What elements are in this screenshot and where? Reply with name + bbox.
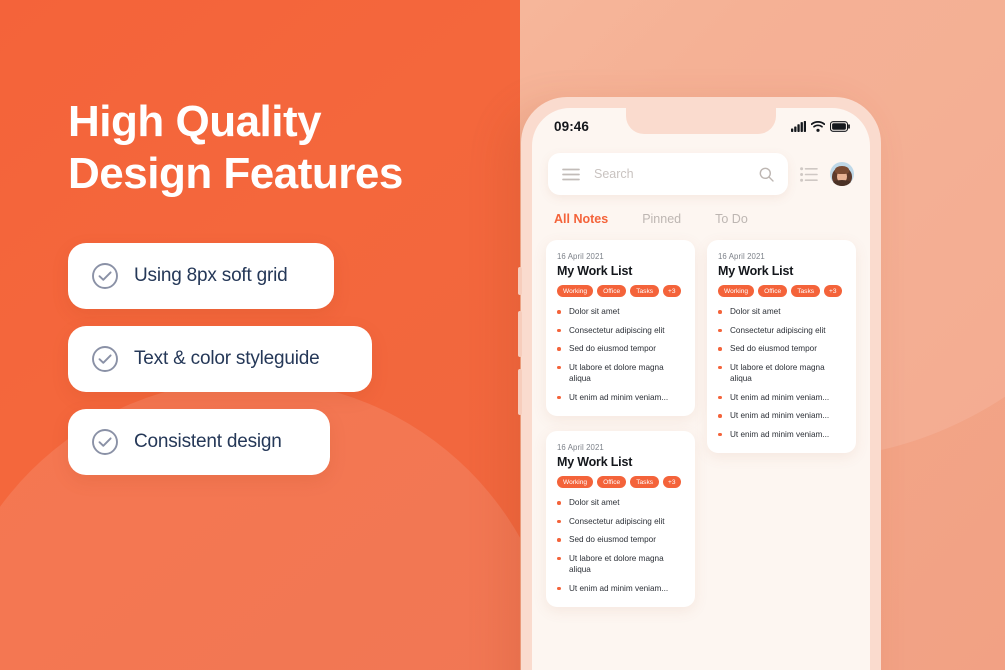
note-tag[interactable]: Working xyxy=(718,285,754,297)
search-icon[interactable] xyxy=(759,167,774,182)
note-tag[interactable]: Tasks xyxy=(630,476,659,488)
note-tag-overflow[interactable]: +3 xyxy=(663,476,681,488)
check-circle-icon xyxy=(90,427,120,457)
note-tag[interactable]: Office xyxy=(597,476,626,488)
notes-column-right: 16 April 2021 My Work List Working Offic… xyxy=(707,240,856,453)
page-title: High Quality Design Features xyxy=(68,96,403,200)
list-item: Ut labore et dolore magna aliqua xyxy=(718,362,845,385)
tab-pinned[interactable]: Pinned xyxy=(642,212,681,226)
feature-label: Text & color styleguide xyxy=(134,348,320,370)
list-item: Consectetur adipiscing elit xyxy=(557,516,684,528)
feature-list: Using 8px soft grid Text & color stylegu… xyxy=(68,243,372,492)
status-icon-group xyxy=(791,121,850,132)
note-tag-row: Working Office Tasks +3 xyxy=(557,285,684,297)
check-circle-icon xyxy=(90,261,120,291)
avatar[interactable] xyxy=(830,162,854,186)
feature-card-1[interactable]: Using 8px soft grid xyxy=(68,243,334,309)
note-tag[interactable]: Office xyxy=(758,285,787,297)
feature-label: Consistent design xyxy=(134,431,282,453)
note-date: 16 April 2021 xyxy=(718,252,845,261)
notes-grid: 16 April 2021 My Work List Working Offic… xyxy=(532,226,870,607)
note-bullet-list: Dolor sit amet Consectetur adipiscing el… xyxy=(718,306,845,440)
avatar-hair-front xyxy=(835,166,849,174)
feature-label: Using 8px soft grid xyxy=(134,265,288,287)
note-tag-row: Working Office Tasks +3 xyxy=(718,285,845,297)
list-item: Sed do eiusmod tempor xyxy=(557,534,684,546)
list-item: Ut enim ad minim veniam... xyxy=(557,392,684,404)
note-tag[interactable]: Working xyxy=(557,285,593,297)
note-date: 16 April 2021 xyxy=(557,443,684,452)
list-item: Sed do eiusmod tempor xyxy=(718,343,845,355)
tab-to-do[interactable]: To Do xyxy=(715,212,748,226)
note-tag-overflow[interactable]: +3 xyxy=(824,285,842,297)
feature-card-2[interactable]: Text & color styleguide xyxy=(68,326,372,392)
check-circle-icon xyxy=(90,344,120,374)
note-bullet-list: Dolor sit amet Consectetur adipiscing el… xyxy=(557,306,684,403)
note-date: 16 April 2021 xyxy=(557,252,684,261)
signal-icon xyxy=(791,121,806,132)
list-item: Ut labore et dolore magna aliqua xyxy=(557,553,684,576)
avatar-shoulder xyxy=(833,180,851,186)
list-item: Sed do eiusmod tempor xyxy=(557,343,684,355)
note-tag[interactable]: Office xyxy=(597,285,626,297)
hamburger-icon[interactable] xyxy=(562,168,580,181)
note-title: My Work List xyxy=(557,264,684,278)
note-card[interactable]: 16 April 2021 My Work List Working Offic… xyxy=(546,240,695,416)
list-item: Consectetur adipiscing elit xyxy=(557,325,684,337)
list-item: Ut enim ad minim veniam... xyxy=(718,392,845,404)
phone-volume-up-button[interactable] xyxy=(518,311,522,357)
phone-screen: 09:46 xyxy=(532,108,870,670)
list-item: Ut enim ad minim veniam... xyxy=(718,429,845,441)
list-item: Ut labore et dolore magna aliqua xyxy=(557,362,684,385)
note-tag[interactable]: Working xyxy=(557,476,593,488)
phone-mockup: 09:46 xyxy=(521,97,881,670)
list-item: Ut enim ad minim veniam... xyxy=(557,583,684,595)
note-bullet-list: Dolor sit amet Consectetur adipiscing el… xyxy=(557,497,684,594)
notes-column-left: 16 April 2021 My Work List Working Offic… xyxy=(546,240,695,607)
phone-mute-button[interactable] xyxy=(518,267,522,295)
list-item: Dolor sit amet xyxy=(718,306,845,318)
status-bar: 09:46 xyxy=(532,108,870,144)
list-item: Dolor sit amet xyxy=(557,306,684,318)
search-row: Search xyxy=(532,144,870,195)
note-tag-row: Working Office Tasks +3 xyxy=(557,476,684,488)
note-tag[interactable]: Tasks xyxy=(791,285,820,297)
search-bar[interactable]: Search xyxy=(548,153,788,195)
phone-volume-down-button[interactable] xyxy=(518,369,522,415)
list-item: Dolor sit amet xyxy=(557,497,684,509)
note-card[interactable]: 16 April 2021 My Work List Working Offic… xyxy=(707,240,856,453)
feature-card-3[interactable]: Consistent design xyxy=(68,409,330,475)
note-tag-overflow[interactable]: +3 xyxy=(663,285,681,297)
wifi-icon xyxy=(811,121,825,132)
status-time: 09:46 xyxy=(554,119,589,134)
note-title: My Work List xyxy=(718,264,845,278)
battery-icon xyxy=(830,121,850,132)
presentation-stage: High Quality Design Features Using 8px s… xyxy=(0,0,1005,670)
note-tag[interactable]: Tasks xyxy=(630,285,659,297)
tab-bar: All Notes Pinned To Do xyxy=(532,195,870,226)
left-content: High Quality Design Features Using 8px s… xyxy=(0,0,520,670)
list-item: Consectetur adipiscing elit xyxy=(718,325,845,337)
search-input[interactable]: Search xyxy=(594,167,759,181)
list-view-icon[interactable] xyxy=(800,167,818,182)
list-item: Ut enim ad minim veniam... xyxy=(718,410,845,422)
note-card[interactable]: 16 April 2021 My Work List Working Offic… xyxy=(546,431,695,607)
tab-all-notes[interactable]: All Notes xyxy=(554,212,608,226)
note-title: My Work List xyxy=(557,455,684,469)
